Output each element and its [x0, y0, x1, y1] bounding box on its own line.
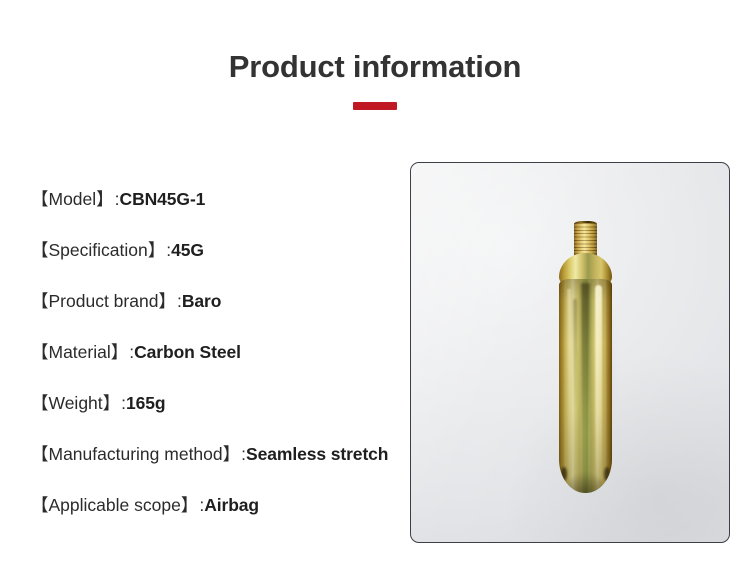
specification-list: 【Model】:CBN45G-1 【Specification】:45G 【Pr… — [31, 186, 411, 543]
cartridge-body — [559, 279, 612, 493]
spec-label: 【Applicable scope】 — [31, 495, 198, 515]
spec-row-specification: 【Specification】:45G — [31, 237, 411, 288]
cartridge-left-highlight — [567, 289, 571, 469]
spec-label: 【Product brand】 — [31, 291, 176, 311]
spec-label: 【Material】 — [31, 342, 128, 362]
spec-value: Seamless stretch — [246, 444, 388, 464]
co2-cartridge-image — [554, 223, 616, 493]
spec-value: 45G — [171, 240, 204, 260]
spec-row-model: 【Model】:CBN45G-1 — [31, 186, 411, 237]
spec-label: 【Model】 — [31, 189, 114, 209]
spec-row-manufacturing-method: 【Manufacturing method】:Seamless stretch — [31, 441, 411, 492]
spec-label: 【Specification】 — [31, 240, 165, 260]
spec-label: 【Manufacturing method】 — [31, 444, 240, 464]
cartridge-dark-streak — [581, 283, 590, 433]
spec-value: Carbon Steel — [134, 342, 241, 362]
product-image-panel — [410, 162, 730, 543]
spec-row-applicable-scope: 【Applicable scope】:Airbag — [31, 492, 411, 543]
spec-value: Airbag — [204, 495, 259, 515]
cartridge-threaded-neck — [574, 223, 597, 257]
spec-row-material: 【Material】:Carbon Steel — [31, 339, 411, 390]
cartridge-base-shading — [562, 463, 609, 493]
page-title: Product information — [0, 48, 750, 86]
spec-row-product-brand: 【Product brand】:Baro — [31, 288, 411, 339]
product-information-page: Product information 【Model】:CBN45G-1 【Sp… — [0, 0, 750, 571]
spec-row-weight: 【Weight】:165g — [31, 390, 411, 441]
page-header: Product information — [0, 48, 750, 110]
cartridge-dark-streak-secondary — [573, 299, 577, 409]
spec-label: 【Weight】 — [31, 393, 120, 413]
cartridge-specular-highlight — [595, 285, 602, 481]
title-underline-accent — [353, 102, 397, 110]
spec-value: 165g — [126, 393, 166, 413]
spec-value: CBN45G-1 — [120, 189, 206, 209]
spec-value: Baro — [182, 291, 221, 311]
